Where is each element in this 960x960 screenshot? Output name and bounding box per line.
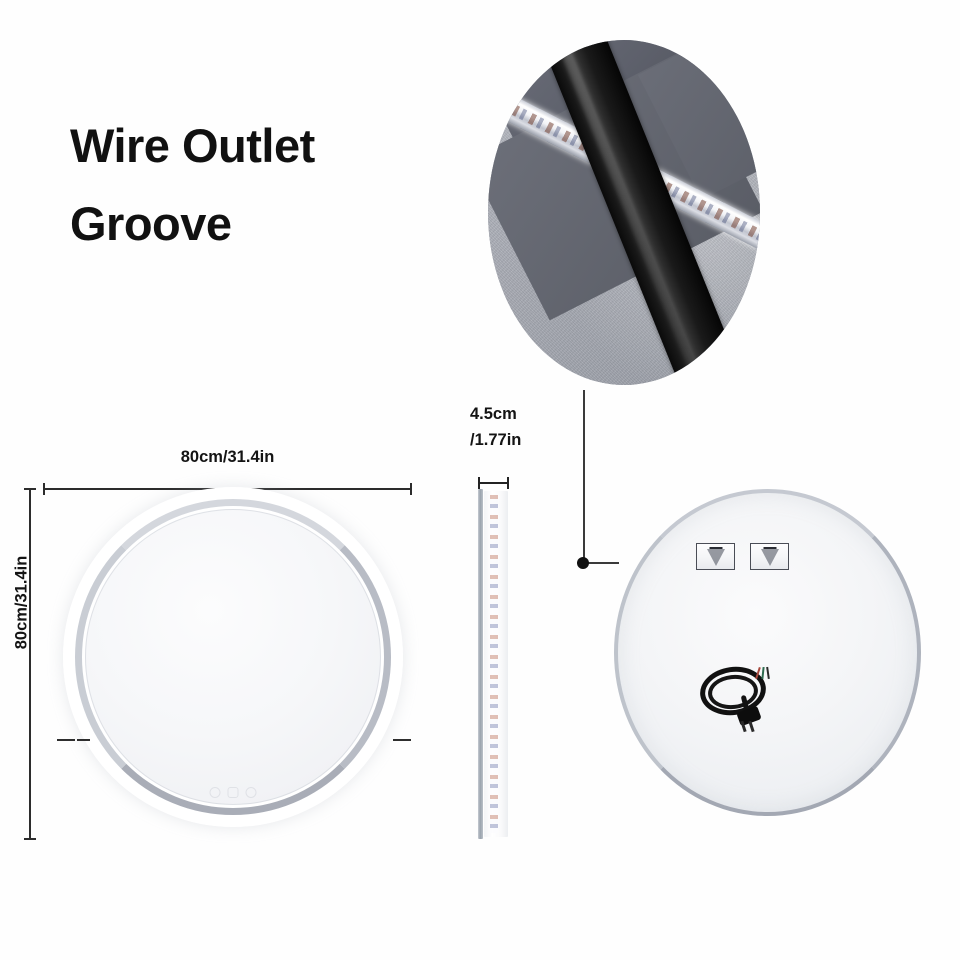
width-dimension-label: 80cm/31.4in	[43, 448, 412, 467]
mounting-bracket-left-icon	[696, 543, 735, 570]
thickness-dimension-cap-right	[507, 477, 509, 489]
front-tick-left	[57, 739, 75, 741]
width-dimension-cap-right	[410, 483, 412, 495]
title-line-1: Wire Outlet	[70, 122, 470, 169]
touch-control-group[interactable]	[210, 787, 257, 798]
thickness-dimension-label: 4.5cm /1.77in	[470, 402, 580, 453]
front-tick-left-inner	[77, 739, 90, 741]
power-cord-assembly	[700, 661, 778, 729]
height-dimension-line	[24, 488, 36, 840]
mirror-side-profile-view	[478, 489, 509, 839]
thickness-dimension-cap-left	[478, 477, 480, 489]
height-dimension-cap-top	[24, 488, 36, 490]
thickness-dimension-bar	[478, 482, 509, 484]
callout-leader-line-vertical	[583, 390, 585, 563]
wire-ground	[761, 667, 764, 679]
wire-groove-closeup-photo	[488, 40, 760, 385]
closeup-inner	[488, 40, 760, 385]
wire-neutral	[766, 667, 769, 679]
back-panel-disc	[614, 489, 921, 816]
mirror-front-glass	[85, 509, 381, 805]
side-led-strip	[490, 495, 498, 833]
bare-wire-ends	[756, 667, 774, 681]
thickness-cm-text: 4.5cm	[470, 402, 580, 428]
height-dimension-cap-bottom	[24, 838, 36, 840]
wire-live	[755, 667, 760, 679]
mounting-bracket-right-icon	[750, 543, 789, 570]
power-touch-button-icon[interactable]	[210, 787, 221, 798]
front-tick-right	[393, 739, 411, 741]
product-infographic-page: Wire Outlet Groove 80cm/31.4in 80cm/31.4…	[0, 0, 960, 960]
brightness-touch-button-icon[interactable]	[228, 787, 239, 798]
mirror-front-view	[63, 487, 403, 827]
height-dimension-bar	[29, 488, 31, 840]
callout-leader-dot	[577, 557, 589, 569]
thickness-dimension-line	[478, 477, 509, 489]
thickness-in-text: /1.77in	[470, 428, 580, 454]
mirror-back-view	[614, 489, 921, 816]
width-dimension-cap-left	[43, 483, 45, 495]
title-line-2: Groove	[70, 200, 470, 247]
color-temp-touch-button-icon[interactable]	[246, 787, 257, 798]
page-title: Wire Outlet Groove	[70, 122, 470, 247]
side-mirror-glass-edge	[478, 489, 483, 839]
